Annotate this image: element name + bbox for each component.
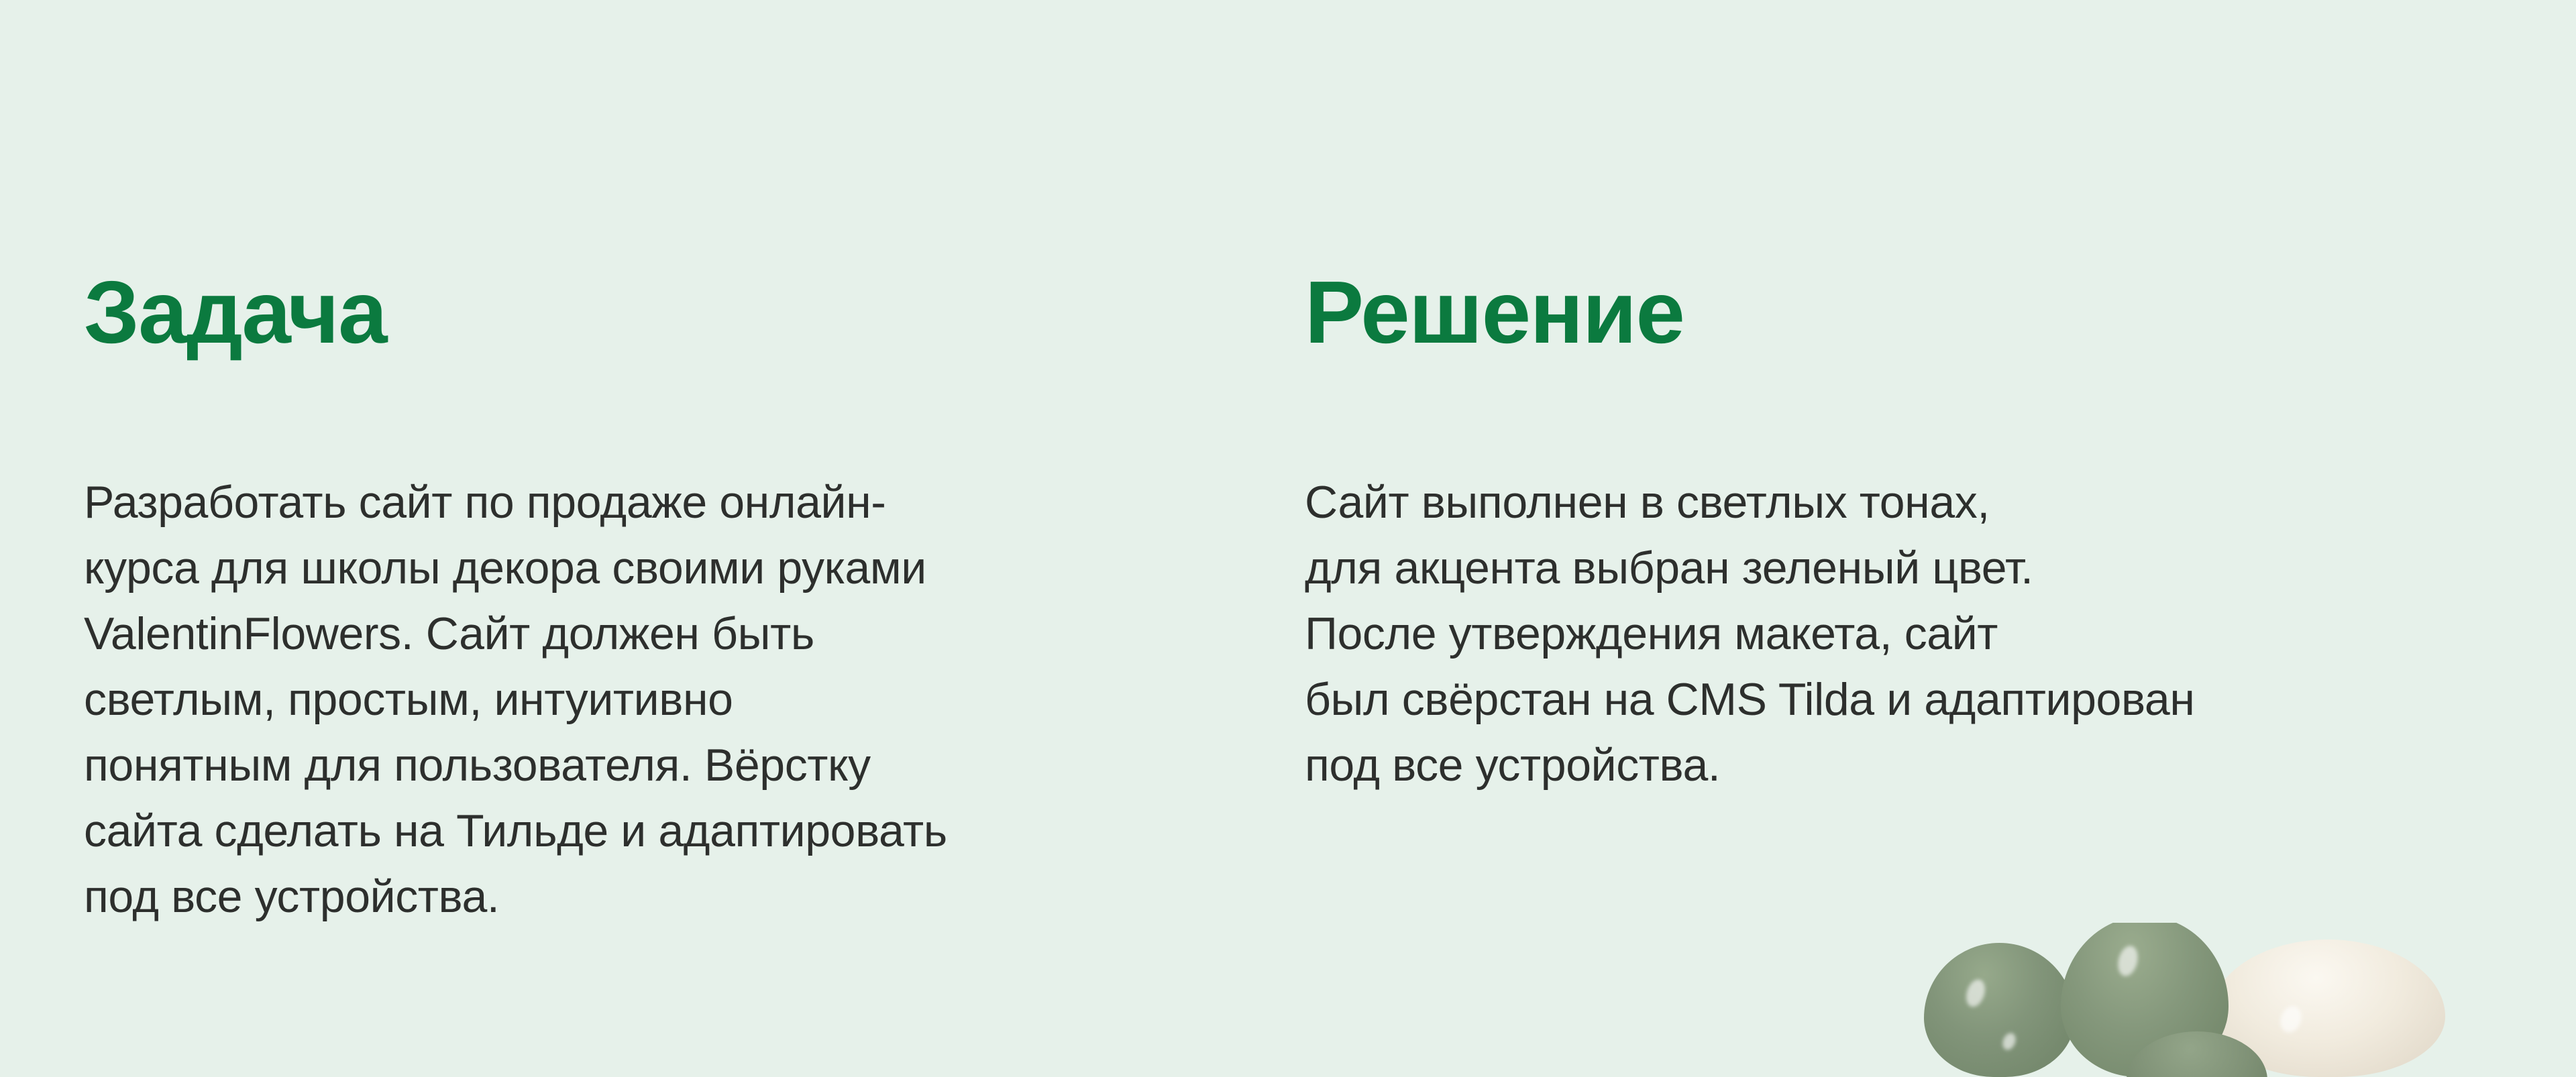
balloon-sage-left — [1924, 943, 2075, 1077]
balloon-highlight — [2000, 1031, 2018, 1052]
task-body-line: курса для школы декора своими руками — [84, 535, 947, 601]
balloon-cream-right — [2210, 940, 2445, 1077]
balloon-highlight — [2277, 1003, 2305, 1035]
task-body-line: Разработать сайт по продаже онлайн- — [84, 469, 947, 535]
solution-body-line: был свёрстан на CMS Tilda и адаптирован — [1305, 667, 2195, 732]
task-body: Разработать сайт по продаже онлайн- курс… — [84, 469, 947, 929]
solution-body-line: После утверждения макета, сайт — [1305, 601, 2195, 667]
solution-heading: Решение — [1305, 268, 1684, 357]
task-body-line: светлым, простым, интуитивно — [84, 667, 947, 732]
task-heading: Задача — [84, 268, 386, 357]
solution-body-line: Сайт выполнен в светлых тонах, — [1305, 469, 2195, 535]
slide-root: Задача Разработать сайт по продаже онлай… — [0, 0, 2576, 1077]
solution-body: Сайт выполнен в светлых тонах, для акцен… — [1305, 469, 2195, 798]
balloon-cream-back — [2080, 953, 2234, 1077]
balloon-sage-bottom — [2127, 1031, 2267, 1077]
solution-body-line: для акцента выбран зеленый цвет. — [1305, 535, 2195, 601]
task-body-line: сайта сделать на Тильде и адаптировать — [84, 798, 947, 864]
balloon-highlight — [1963, 977, 1988, 1009]
task-body-line: под все устройства. — [84, 864, 947, 929]
balloon-sage-middle — [2061, 923, 2229, 1077]
solution-body-line: под все устройства. — [1305, 732, 2195, 798]
balloon-highlight — [2115, 944, 2141, 978]
task-body-line: понятным для пользователя. Вёрстку — [84, 732, 947, 798]
balloon-photo — [1905, 923, 2576, 1077]
gold-ribbon-accent — [2104, 968, 2206, 1077]
task-body-line: ValentinFlowers. Сайт должен быть — [84, 601, 947, 667]
